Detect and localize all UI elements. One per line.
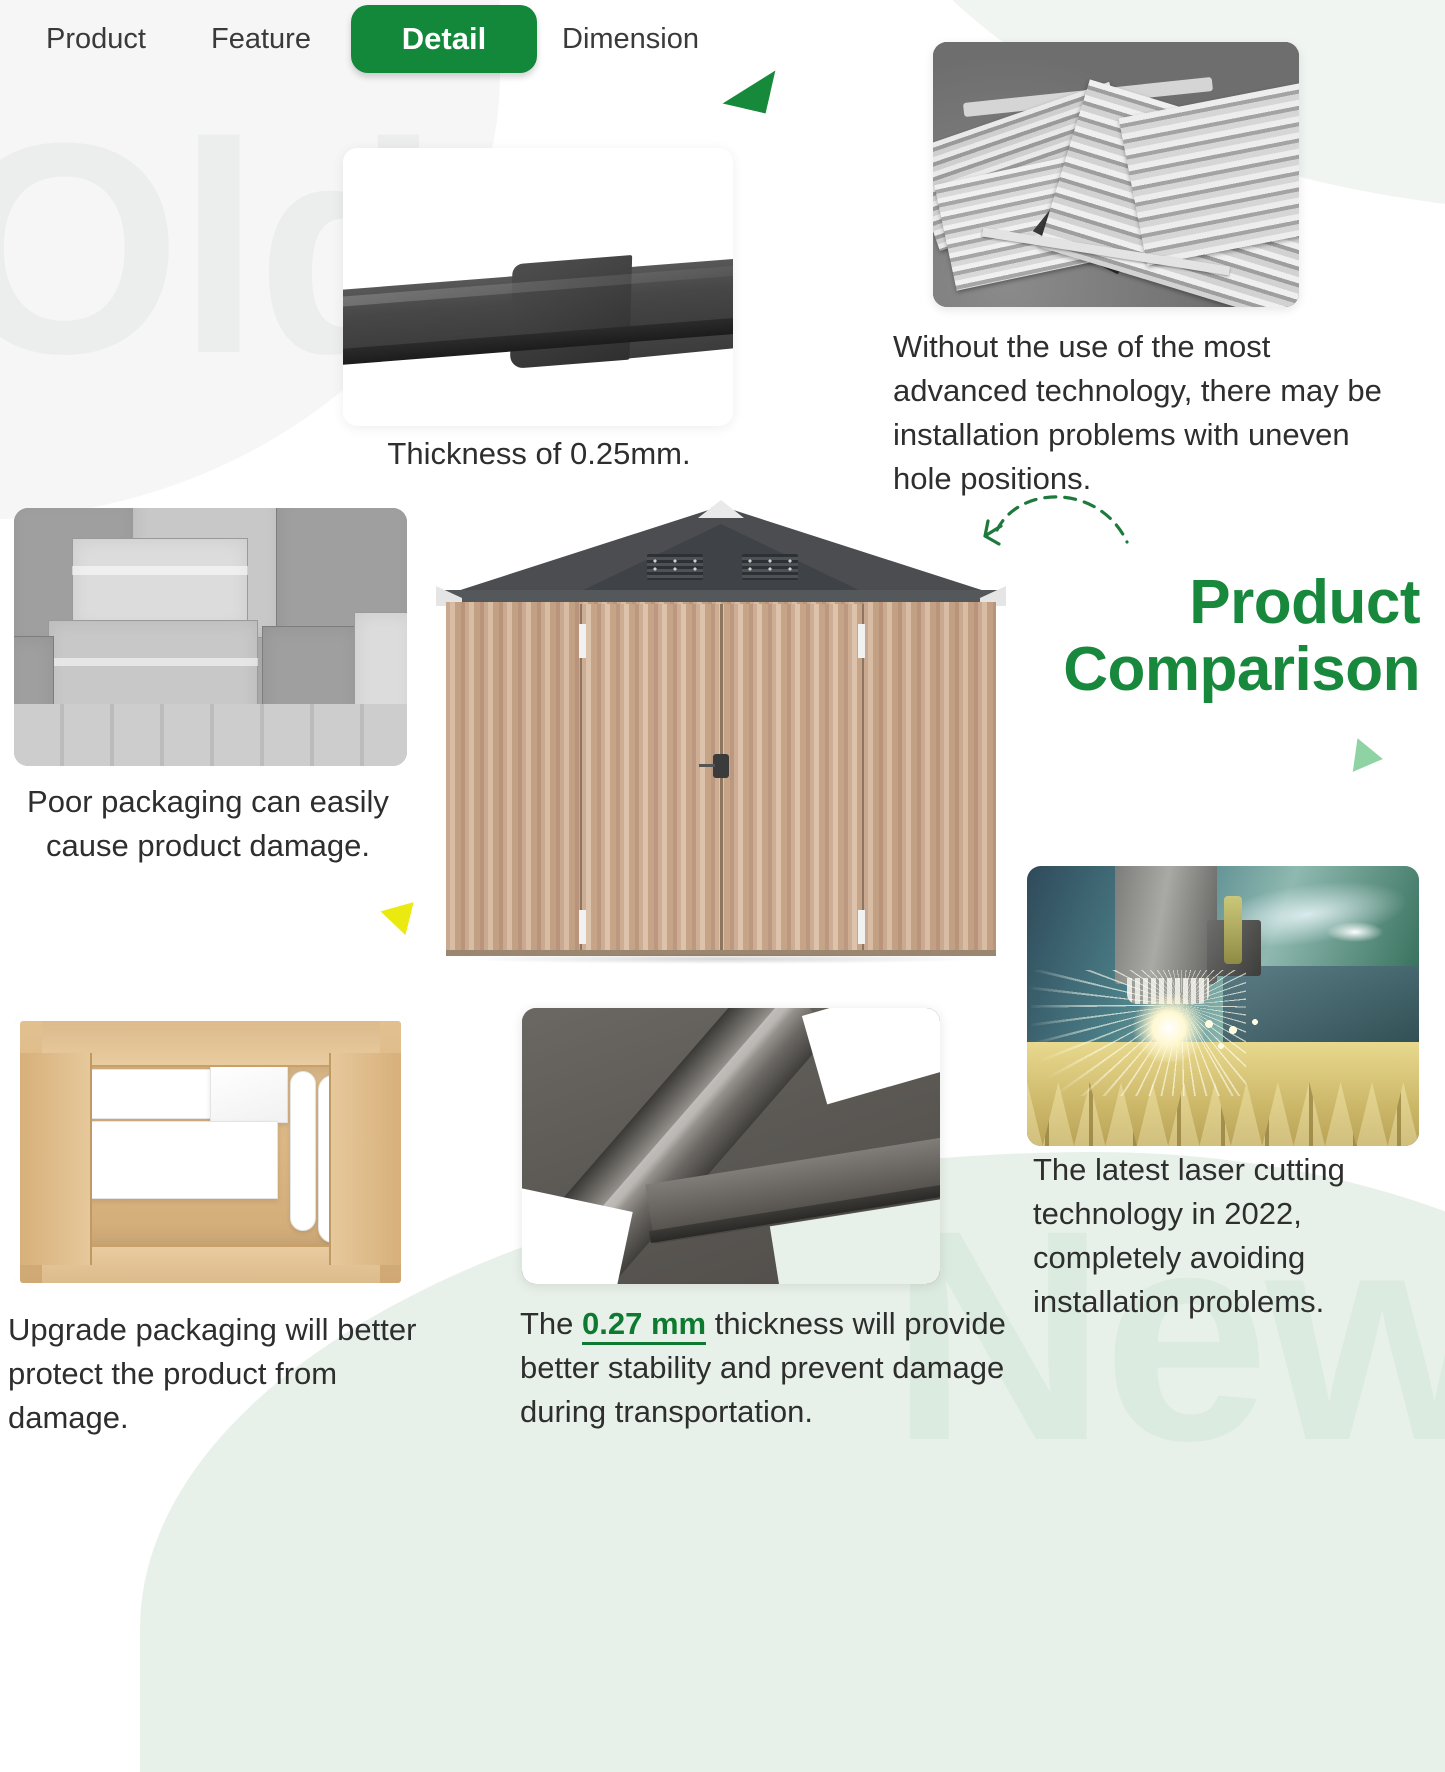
shed-apex-cap	[698, 500, 744, 518]
laser-cutting-machine-photo	[1027, 866, 1419, 1146]
shed-hinge-bottom-right	[858, 910, 865, 944]
stacked-cardboard-boxes-photo	[14, 508, 407, 766]
new-thick-metal-panel-render	[522, 1008, 940, 1284]
foam-piece-wrap	[210, 1065, 288, 1123]
mint-triangle-pointer-icon	[1353, 738, 1385, 776]
laser-spark-core	[1131, 994, 1207, 1062]
tab-feature[interactable]: Feature	[211, 23, 311, 56]
shed-hinge-bottom-left	[579, 910, 586, 944]
caption-new-thickness: The 0.27 mm thickness will provide bette…	[520, 1302, 1020, 1434]
laser-head-body	[1115, 866, 1217, 984]
yellow-triangle-pointer-icon	[376, 895, 413, 935]
caption-poor-packaging: Poor packaging can easily cause product …	[0, 780, 416, 868]
old-thin-metal-panel-render	[343, 148, 733, 426]
shed-hinge-top-left	[579, 624, 586, 658]
shed-hinge-top-right	[858, 624, 865, 658]
box-wrap-sheen-2	[48, 658, 258, 666]
warehouse-floor	[14, 704, 407, 766]
heading-line-1: Product	[1000, 570, 1420, 637]
tab-detail[interactable]: Detail	[351, 5, 537, 73]
caption-old-thickness: Thickness of 0.25mm.	[343, 432, 735, 476]
box-wrapped-top	[72, 538, 248, 630]
product-comparison-heading: Product Comparison	[1000, 570, 1420, 704]
tab-product[interactable]: Product	[46, 23, 146, 56]
caption-upgrade-packaging: Upgrade packaging will better protect th…	[8, 1308, 458, 1440]
laser-spark-dots	[1199, 1016, 1279, 1056]
shed-vent-rivets-right	[742, 558, 798, 578]
caption-laser-cutting: The latest laser cutting technology in 2…	[1033, 1148, 1433, 1324]
shed-door-seam	[720, 604, 723, 954]
carton-flap-left	[20, 1053, 92, 1265]
shed-vent-rivets-left	[647, 558, 703, 578]
carton-photo-scene	[14, 1013, 407, 1291]
caption-uneven-holes: Without the use of the most advanced tec…	[893, 325, 1393, 501]
box-wrap-sheen-1	[72, 566, 248, 575]
laser-highlight	[1327, 922, 1383, 942]
laser-photo-scene	[1027, 866, 1419, 1146]
boxes-photo-scene	[14, 508, 407, 766]
laser-nozzle	[1224, 896, 1242, 964]
metal-garden-shed-render	[432, 498, 1010, 960]
shed-door-latch	[699, 764, 715, 767]
shed-door-handle	[713, 754, 729, 778]
tab-dimension[interactable]: Dimension	[562, 23, 699, 56]
old-panel-fold	[510, 255, 632, 369]
carton-flap-right	[329, 1053, 401, 1265]
tab-bar: Product Feature Detail Dimension	[0, 0, 760, 82]
laser-background-glow	[1236, 870, 1413, 953]
caption-new-thickness-prefix: The	[520, 1306, 582, 1341]
roof-photo-scene	[933, 42, 1299, 307]
thickness-value-highlight: 0.27 mm	[582, 1306, 706, 1345]
open-carton-with-foam-photo	[14, 1013, 407, 1291]
shed-ground-shadow	[466, 954, 978, 964]
infographic-stage: Old New Product Feature Detail Dimension	[0, 0, 1445, 1445]
heading-line-2: Comparison	[1000, 637, 1420, 704]
foam-roll-1	[290, 1071, 316, 1231]
collapsed-metal-roof-photo	[933, 42, 1299, 307]
